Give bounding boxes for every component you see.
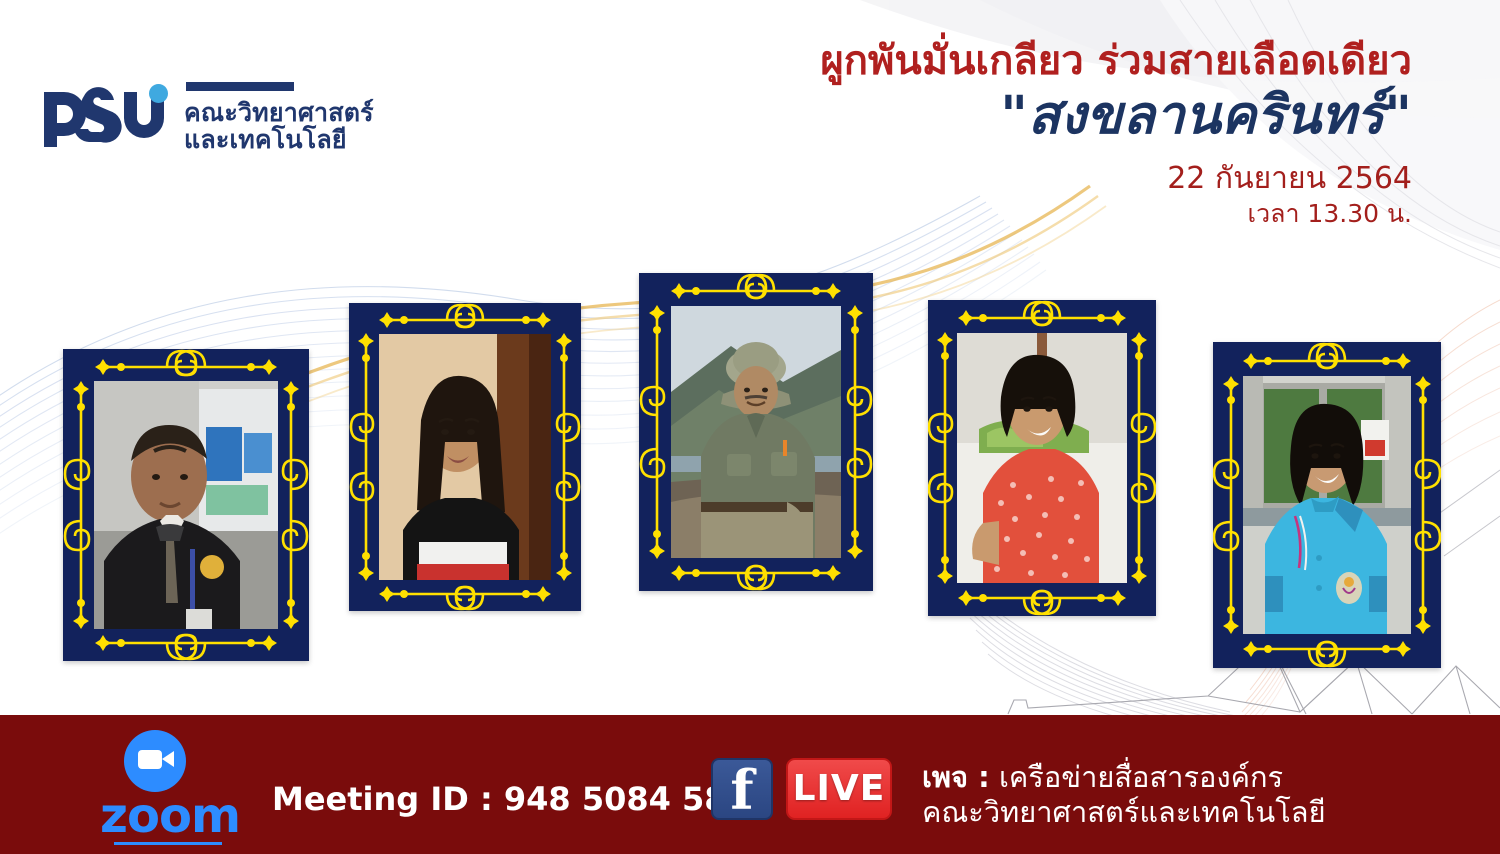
zoom-underline	[114, 842, 222, 845]
frame-ornament-4	[928, 300, 1156, 616]
event-date: 22 กันยายน 2564	[820, 161, 1412, 197]
psu-logo-block: คณะวิทยาศาสตร์ และเทคโนโลยี	[38, 78, 374, 154]
psu-logomark-icon	[38, 78, 170, 148]
facebook-icon[interactable]: f	[711, 758, 773, 820]
faculty-name-line1: คณะวิทยาศาสตร์	[184, 100, 374, 127]
zoom-camera-body	[138, 750, 162, 769]
portrait-frame-4	[928, 300, 1156, 616]
frame-ornament-1	[63, 349, 309, 661]
psu-accent-dot-icon	[149, 84, 168, 103]
zoom-camera-lens	[162, 751, 174, 767]
frame-ornament-5	[1213, 342, 1441, 668]
frame-ornament-2	[349, 303, 581, 611]
headline-subtitle: "สงขลานครินทร์"	[820, 87, 1412, 145]
event-poster: คณะวิทยาศาสตร์ และเทคโนโลยี ผูกพันมั่นเก…	[0, 0, 1500, 854]
zoom-wordmark: zoom	[86, 792, 254, 840]
headline-block: ผูกพันมั่นเกลียว ร่วมสายเลือดเดียว "สงขล…	[820, 38, 1412, 229]
facebook-page-label: เพจ :	[922, 760, 990, 794]
zoom-logo[interactable]: zoom	[86, 730, 254, 848]
facebook-live-badge[interactable]: LIVE	[786, 758, 892, 820]
facebook-page-block: เพจ : เครือข่ายสื่อสารองค์กร คณะวิทยาศาส…	[922, 760, 1326, 831]
portrait-frame-5	[1213, 342, 1441, 668]
faculty-name-block: คณะวิทยาศาสตร์ และเทคโนโลยี	[184, 82, 374, 154]
event-time: เวลา 13.30 น.	[820, 199, 1412, 229]
facebook-page-line1: เพจ : เครือข่ายสื่อสารองค์กร	[922, 760, 1326, 795]
facebook-page-line2: คณะวิทยาศาสตร์และเทคโนโลยี	[922, 795, 1326, 830]
frame-ornament-3	[639, 273, 873, 591]
faculty-rule-divider	[186, 82, 294, 91]
headline-main: ผูกพันมั่นเกลียว ร่วมสายเลือดเดียว	[820, 38, 1412, 85]
portrait-frame-3	[639, 273, 873, 591]
zoom-meeting-id: Meeting ID : 948 5084 5828	[272, 780, 771, 818]
facebook-f-glyph: f	[713, 760, 771, 818]
portrait-frame-2	[349, 303, 581, 611]
facebook-page-name: เครือข่ายสื่อสารองค์กร	[999, 760, 1283, 794]
portrait-frame-1	[63, 349, 309, 661]
faculty-name-line2: และเทคโนโลยี	[184, 127, 374, 154]
